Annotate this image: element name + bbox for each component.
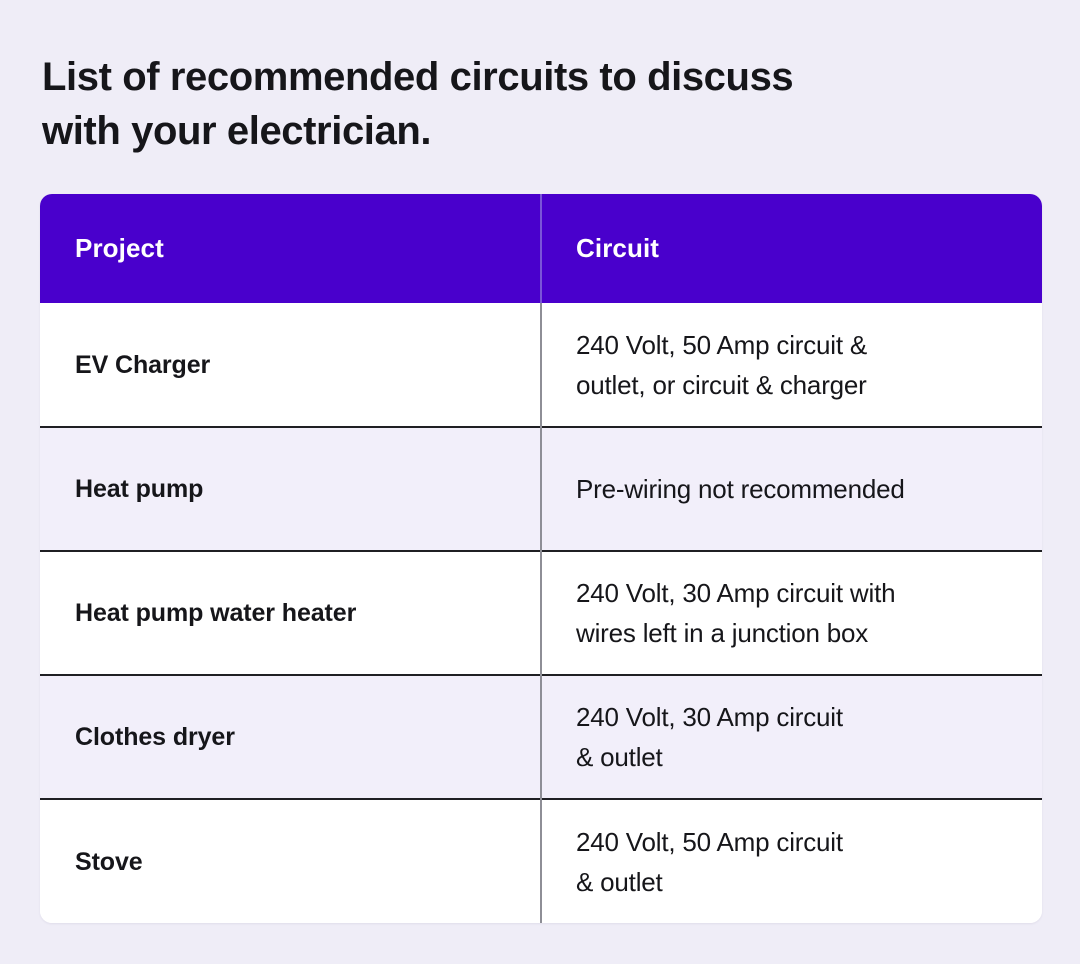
table-header: Project Circuit xyxy=(40,194,1042,303)
page-root: List of recommended circuits to discuss … xyxy=(0,0,1080,964)
table-row: Heat pump water heater240 Volt, 30 Amp c… xyxy=(40,551,1042,675)
table-row: Clothes dryer240 Volt, 30 Amp circuit & … xyxy=(40,675,1042,799)
table-header-row: Project Circuit xyxy=(40,194,1042,303)
cell-circuit: 240 Volt, 50 Amp circuit & outlet xyxy=(541,799,1042,923)
cell-project: EV Charger xyxy=(40,303,541,427)
cell-circuit: 240 Volt, 30 Amp circuit with wires left… xyxy=(541,551,1042,675)
column-header-circuit: Circuit xyxy=(541,194,1042,303)
circuit-table-card: Project Circuit EV Charger240 Volt, 50 A… xyxy=(40,194,1042,923)
table-row: Heat pumpPre-wiring not recommended xyxy=(40,427,1042,551)
table-row: Stove240 Volt, 50 Amp circuit & outlet xyxy=(40,799,1042,923)
cell-project: Clothes dryer xyxy=(40,675,541,799)
cell-project: Heat pump water heater xyxy=(40,551,541,675)
page-title: List of recommended circuits to discuss … xyxy=(42,50,862,158)
cell-project: Heat pump xyxy=(40,427,541,551)
column-header-project: Project xyxy=(40,194,541,303)
cell-circuit: 240 Volt, 30 Amp circuit & outlet xyxy=(541,675,1042,799)
cell-circuit: 240 Volt, 50 Amp circuit & outlet, or ci… xyxy=(541,303,1042,427)
table-row: EV Charger240 Volt, 50 Amp circuit & out… xyxy=(40,303,1042,427)
table-body: EV Charger240 Volt, 50 Amp circuit & out… xyxy=(40,303,1042,923)
circuit-table: Project Circuit EV Charger240 Volt, 50 A… xyxy=(40,194,1042,923)
cell-circuit: Pre-wiring not recommended xyxy=(541,427,1042,551)
cell-project: Stove xyxy=(40,799,541,923)
